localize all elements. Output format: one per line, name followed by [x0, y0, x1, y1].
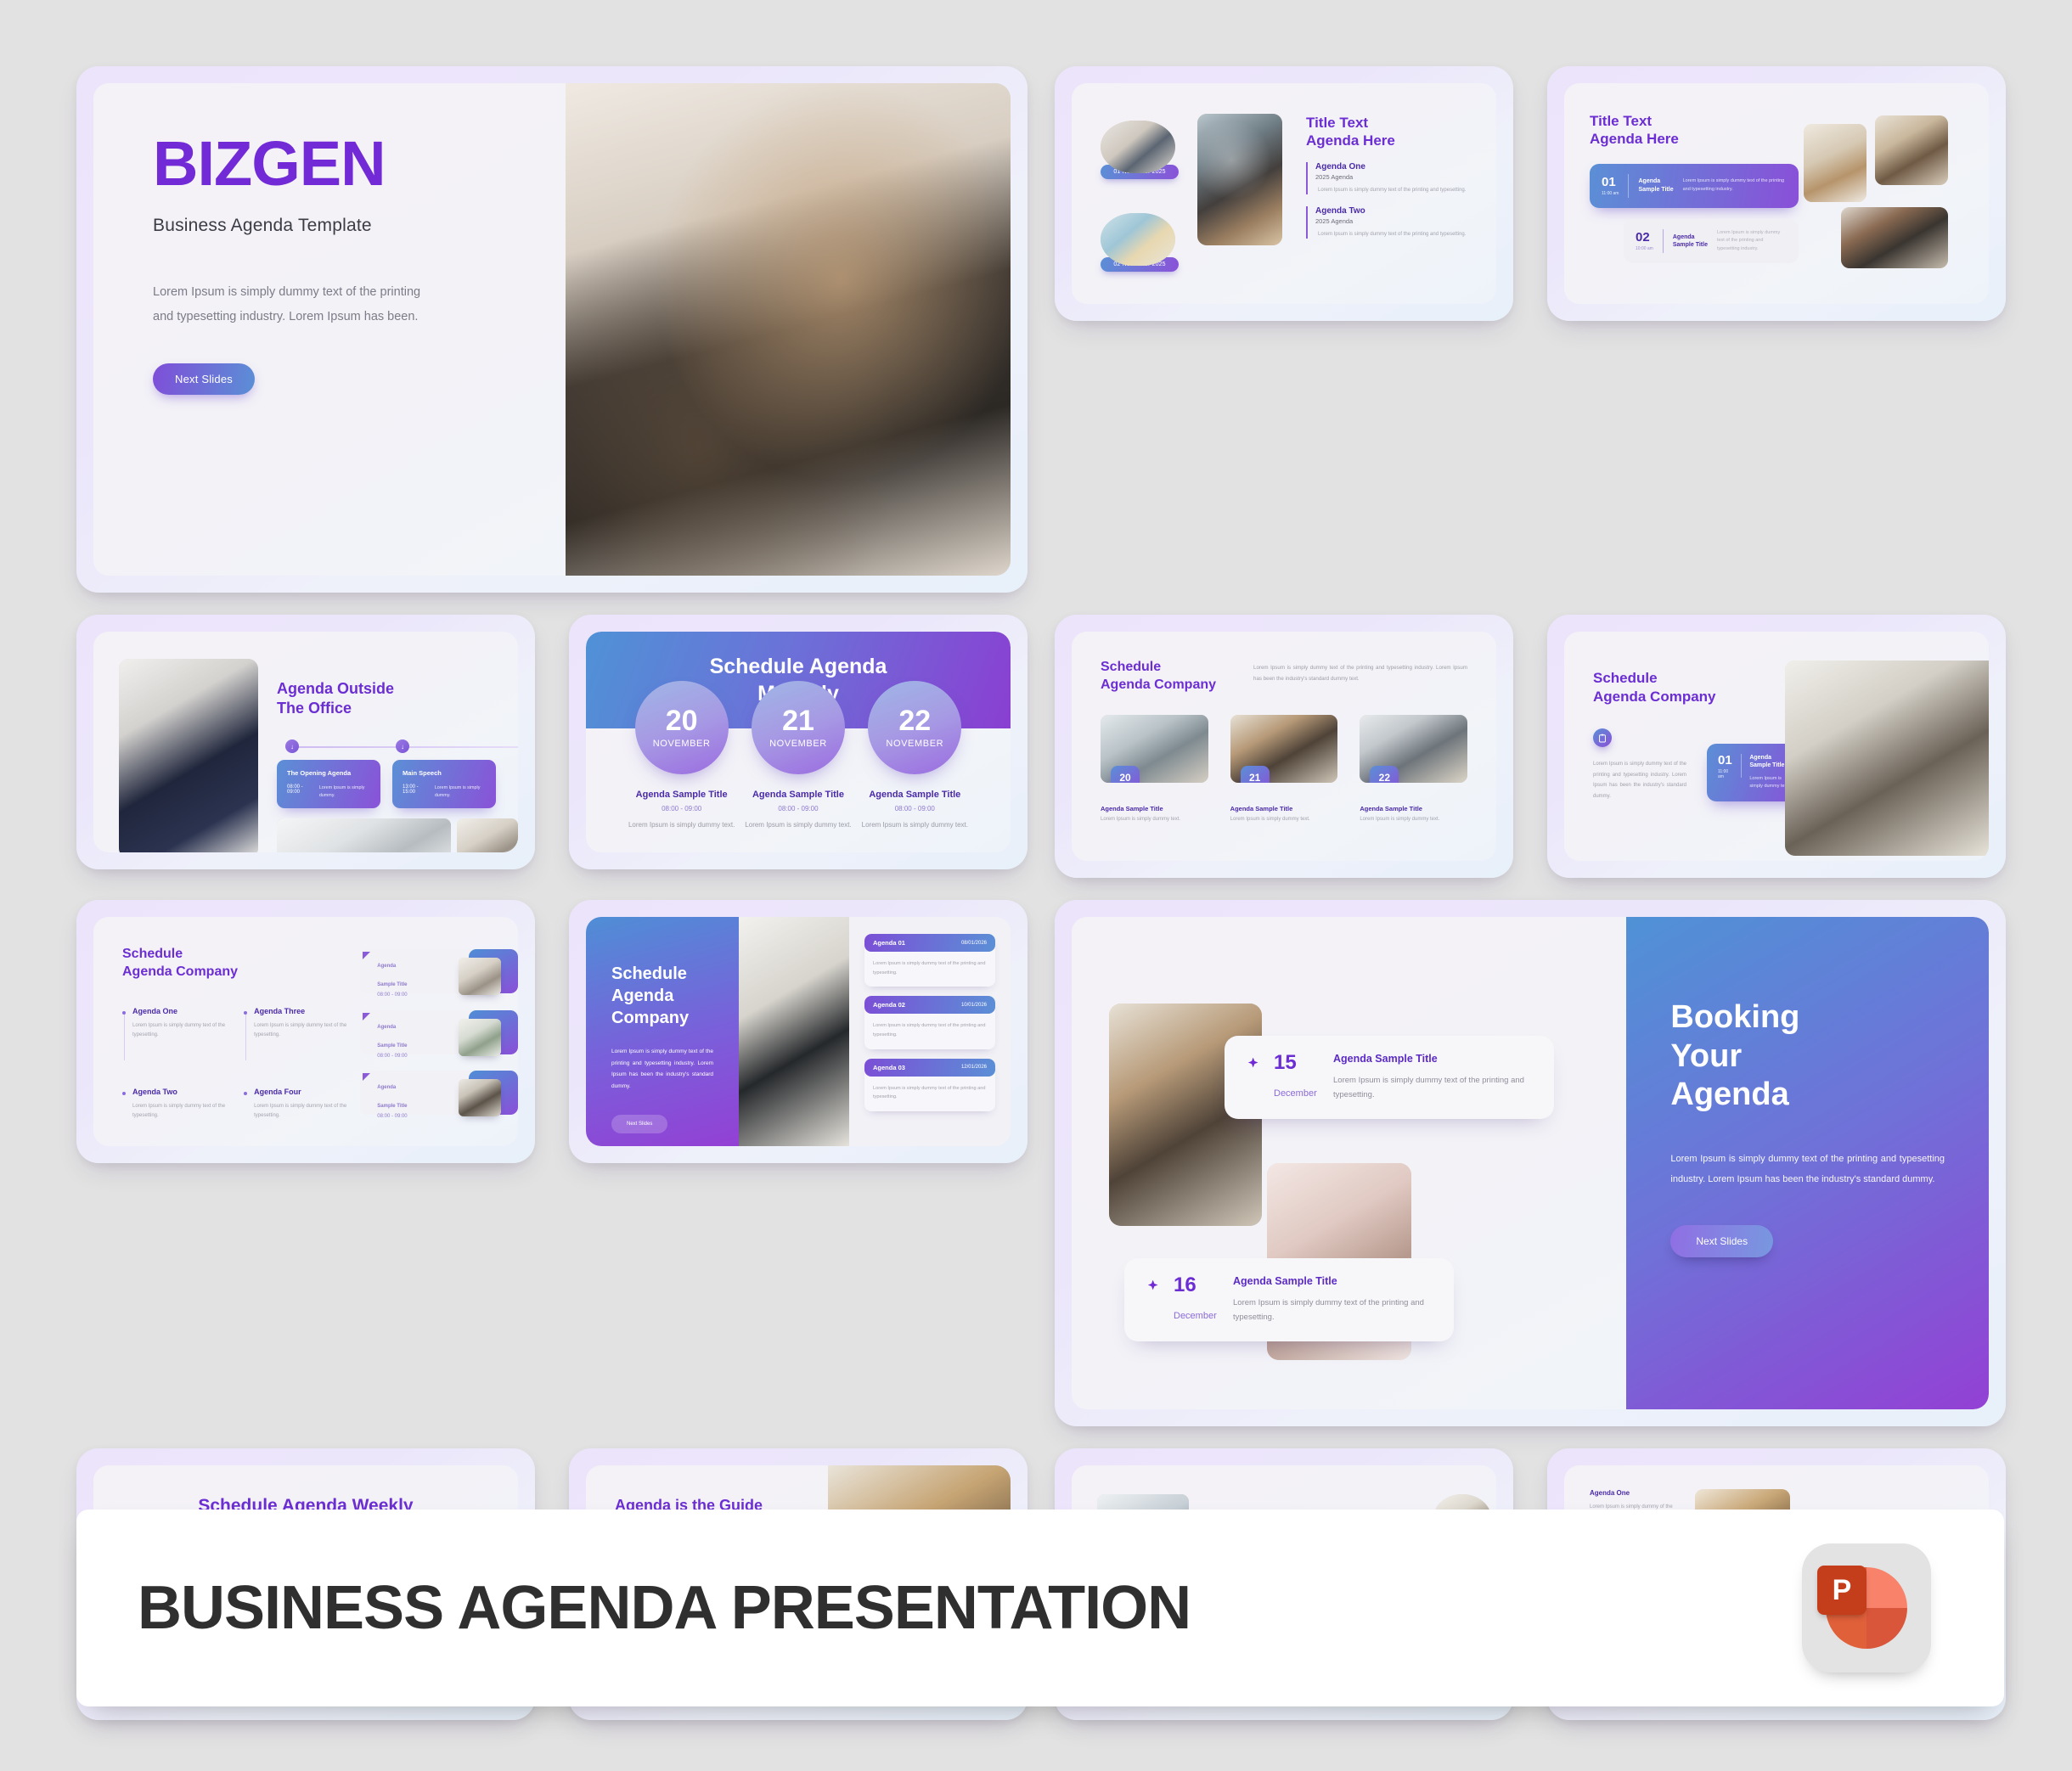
split-agenda-card[interactable]: Agenda 02 10/01/2026 Lorem Ipsum is simp… [864, 996, 995, 1049]
corner-marker-icon [363, 952, 370, 959]
schedule3-photo: 22 NOVEMBER [1360, 715, 1467, 783]
agenda-thumb-row[interactable]: Agenda Sample Title 08:00 - 09:00 [360, 949, 518, 996]
split-agenda-card[interactable]: Agenda 01 08/01/2026 Lorem Ipsum is simp… [864, 934, 995, 987]
monthly-col-title: Agenda Sample Title [857, 790, 973, 800]
schedule3-lead: Lorem Ipsum is simply dummy text of the … [1253, 659, 1467, 684]
outside-right-side-head: Agenda One [1590, 1489, 1685, 1497]
agenda-thumb-title: Agenda Sample Title [377, 963, 407, 988]
agenda-a-main-photo [1197, 114, 1282, 245]
split-card-date: 12/01/2026 [961, 1065, 987, 1070]
agenda-a-item-head: Agenda Two [1315, 206, 1467, 216]
row1-right-pair: 01 November 2025 02 November 2025 Title … [1055, 66, 2006, 593]
row2-left-pair: Agenda Outside The Office ↓ ↓ The Openin… [76, 615, 1028, 878]
split-photo [739, 917, 849, 1146]
agenda-item[interactable]: Agenda Two Lorem Ipsum is simply dummy t… [122, 1088, 230, 1122]
agenda-a-item: Agenda Two 2025 Agenda Lorem Ipsum is si… [1306, 206, 1467, 239]
outside-card-body: Lorem Ipsum is simply dummy. [319, 784, 370, 799]
agenda-b-row-title: Agenda Sample Title [1673, 233, 1708, 250]
schedule3-card-title: Agenda Sample Title [1101, 805, 1208, 812]
split-card-date: 10/01/2026 [961, 1003, 987, 1008]
split-card-body: Lorem Ipsum is simply dummy text of the … [864, 1014, 995, 1049]
agenda-b-row-1[interactable]: 01 11:00 am Agenda Sample Title Lorem Ip… [1590, 164, 1799, 208]
agenda-thumb-title: Agenda Sample Title [377, 1024, 407, 1049]
monthly-date-circle: 22 NOVEMBER [868, 681, 961, 774]
divider [1628, 174, 1629, 198]
banner-title: BUSINESS AGENDA PRESENTATION [107, 1573, 1191, 1643]
outside-left-strip-photo-2 [457, 818, 518, 852]
four-agendas-title: Schedule Agenda Company [122, 946, 352, 981]
booking-title: Booking Your Agenda [1670, 998, 1945, 1115]
agenda-b-row-time: 10:00 am [1636, 246, 1653, 251]
bullet-icon [122, 1092, 126, 1095]
schedule3-card-body: Lorem Ipsum is simply dummy text. [1230, 817, 1338, 822]
monthly-column[interactable]: 20 NOVEMBER Agenda Sample Title 08:00 - … [623, 681, 740, 829]
split-body: Lorem Ipsum is simply dummy text of the … [611, 1046, 713, 1093]
split-card-body: Lorem Ipsum is simply dummy text of the … [864, 952, 995, 987]
date-chip: 22 NOVEMBER [1370, 766, 1399, 783]
cover-photo [566, 83, 1011, 576]
agenda-item-body: Lorem Ipsum is simply dummy text of the … [132, 1102, 230, 1122]
agenda-item-body: Lorem Ipsum is simply dummy text of the … [254, 1021, 352, 1041]
monthly-col-title: Agenda Sample Title [740, 790, 856, 800]
clipboard-card-time: 11:00 am [1718, 769, 1732, 779]
outside-card-body: Lorem Ipsum is simply dummy. [435, 784, 486, 799]
split-agenda-card[interactable]: Agenda 03 12/01/2026 Lorem Ipsum is simp… [864, 1059, 995, 1111]
agenda-b-row-2[interactable]: 02 10:00 am Agenda Sample Title Lorem Ip… [1624, 219, 1799, 264]
schedule3-card[interactable]: 22 NOVEMBER Agenda Sample Title Lorem Ip… [1360, 715, 1467, 822]
clipboard-photo [1785, 661, 1989, 856]
timeline-arrow-down-icon: ↓ [396, 739, 409, 753]
clipboard-card-num: 01 [1718, 754, 1732, 767]
agenda-a-item-head: Agenda One [1315, 162, 1467, 171]
agenda-thumb-time: 08:00 - 09:00 [377, 1114, 407, 1119]
schedule3-photo: 20 NOVEMBER [1101, 715, 1208, 783]
monthly-date-circle: 21 NOVEMBER [752, 681, 845, 774]
slide-cover[interactable]: BIZGEN Business Agenda Template Lorem Ip… [76, 66, 1028, 593]
booking-card-body: Lorem Ipsum is simply dummy text of the … [1333, 1073, 1535, 1102]
powerpoint-letter: P [1817, 1566, 1866, 1615]
agenda-b-row-title: Agenda Sample Title [1638, 177, 1673, 194]
schedule3-title: Schedule Agenda Company [1101, 659, 1228, 694]
schedule3-photo: 21 NOVEMBER [1230, 715, 1338, 783]
pin-icon [1243, 1056, 1260, 1073]
booking-card-month: December [1274, 1088, 1320, 1099]
agenda-b-row-body: Lorem Ipsum is simply dummy text of the … [1683, 177, 1788, 194]
agenda-item-body: Lorem Ipsum is simply dummy text of the … [132, 1021, 230, 1041]
booking-card-day: 15 [1274, 1053, 1320, 1073]
agenda-item-head: Agenda Two [132, 1088, 230, 1096]
outside-left-photo [119, 659, 258, 852]
monthly-date-circle: 20 NOVEMBER [635, 681, 729, 774]
monthly-col-time: 08:00 - 09:00 [623, 805, 740, 812]
outside-card-title: The Opening Agenda [287, 769, 370, 777]
agenda-thumb-title: Agenda Sample Title [377, 1084, 407, 1110]
booking-next-slides-button[interactable]: Next Slides [1670, 1225, 1773, 1257]
agenda-thumb-photo [459, 1019, 501, 1056]
slide-monthly[interactable]: Schedule Agenda Monthly 20 NOVEMBER Agen… [569, 615, 1028, 869]
cover-body: Lorem Ipsum is simply dummy text of the … [153, 280, 433, 329]
outside-left-title: Agenda Outside The Office [277, 679, 518, 717]
booking-body: Lorem Ipsum is simply dummy text of the … [1670, 1149, 1945, 1189]
agenda-b-row-num: 01 [1602, 176, 1619, 188]
slide-grid: BIZGEN Business Agenda Template Lorem Ip… [76, 66, 2006, 1720]
agenda-thumb-photo [459, 1079, 501, 1116]
agenda-thumb-photo [459, 958, 501, 995]
slide-four-agendas[interactable]: Schedule Agenda Company Agenda One Lorem… [76, 900, 535, 1163]
outside-left-card[interactable]: Main Speech 13:00 - 15:00 Lorem Ipsum is… [392, 760, 496, 808]
outside-left-strip-photo-1 [277, 818, 451, 852]
agenda-thumb-row[interactable]: Agenda Sample Title 08:00 - 09:00 [360, 1010, 518, 1057]
agenda-item-head: Agenda Four [254, 1088, 352, 1096]
clipboard-body: Lorem Ipsum is simply dummy text of the … [1593, 759, 1686, 801]
agenda-a-item-body: Lorem Ipsum is simply dummy text of the … [1315, 186, 1467, 194]
agenda-item-body: Lorem Ipsum is simply dummy text of the … [254, 1102, 352, 1122]
split-card-label: Agenda 02 [873, 1001, 905, 1009]
slide-schedule-three-photos[interactable]: Schedule Agenda Company Lorem Ipsum is s… [1055, 615, 1513, 878]
outside-card-time: 13:00 - 15:00 [403, 784, 427, 795]
monthly-col-body: Lorem Ipsum is simply dummy text. [857, 821, 973, 829]
booking-card[interactable]: 16 December Agenda Sample Title Lorem Ip… [1124, 1258, 1454, 1341]
monthly-col-time: 08:00 - 09:00 [740, 805, 856, 812]
booking-card-day: 16 [1174, 1275, 1219, 1296]
divider [1741, 754, 1742, 778]
agenda-a-photo-2-group: 02 November 2025 [1101, 213, 1179, 272]
split-next-slides-button[interactable]: Next Slides [611, 1115, 667, 1133]
agenda-a-title: Title Text Agenda Here [1306, 114, 1467, 150]
agenda-a-photo-1-group: 01 November 2025 [1101, 121, 1179, 179]
agenda-a-item-year: 2025 Agenda [1315, 173, 1467, 181]
monthly-column[interactable]: 22 NOVEMBER Agenda Sample Title 08:00 - … [857, 681, 973, 829]
schedule3-card-body: Lorem Ipsum is simply dummy text. [1101, 817, 1208, 822]
timeline: ↓ ↓ [277, 739, 518, 753]
pin-icon [1143, 1279, 1160, 1296]
slide-outside-office-left[interactable]: Agenda Outside The Office ↓ ↓ The Openin… [76, 615, 535, 869]
agenda-a-item-body: Lorem Ipsum is simply dummy text of the … [1315, 230, 1467, 239]
schedule3-card-title: Agenda Sample Title [1360, 805, 1467, 812]
agenda-item[interactable]: Agenda Four Lorem Ipsum is simply dummy … [244, 1088, 352, 1122]
row2-right-pair: Schedule Agenda Company Lorem Ipsum is s… [1055, 615, 2006, 878]
agenda-b-row-time: 11:00 am [1602, 191, 1619, 196]
date-chip: 21 NOVEMBER [1241, 766, 1270, 783]
agenda-a-photo-1 [1101, 121, 1175, 173]
agenda-a-item: Agenda One 2025 Agenda Lorem Ipsum is si… [1306, 162, 1467, 194]
booking-card-title: Agenda Sample Title [1233, 1275, 1435, 1287]
slide-title-agenda-a[interactable]: 01 November 2025 02 November 2025 Title … [1055, 66, 1513, 321]
presentation-showcase: BIZGEN Business Agenda Template Lorem Ip… [0, 0, 2072, 1771]
corner-marker-icon [363, 1013, 370, 1020]
split-card-label: Agenda 03 [873, 1064, 905, 1071]
agenda-b-row-body: Lorem Ipsum is simply dummy text of the … [1717, 229, 1787, 254]
schedule3-card[interactable]: 21 NOVEMBER Agenda Sample Title Lorem Ip… [1230, 715, 1338, 822]
agenda-thumb-time: 08:00 - 09:00 [377, 1054, 407, 1059]
split-card-label: Agenda 01 [873, 939, 905, 947]
bullet-icon [244, 1092, 247, 1095]
booking-card[interactable]: 15 December Agenda Sample Title Lorem Ip… [1225, 1036, 1554, 1119]
agenda-item[interactable]: Agenda Three Lorem Ipsum is simply dummy… [244, 1007, 352, 1060]
schedule3-card-body: Lorem Ipsum is simply dummy text. [1360, 817, 1467, 822]
powerpoint-icon: P [1802, 1543, 1931, 1673]
schedule3-card-title: Agenda Sample Title [1230, 805, 1338, 812]
agenda-item[interactable]: Agenda One Lorem Ipsum is simply dummy t… [122, 1007, 230, 1060]
clipboard-icon [1593, 728, 1612, 747]
agenda-a-item-year: 2025 Agenda [1315, 217, 1467, 225]
date-chip: 20 NOVEMBER [1111, 766, 1140, 783]
booking-card-body: Lorem Ipsum is simply dummy text of the … [1233, 1296, 1435, 1324]
clipboard-title: Schedule Agenda Company [1593, 669, 1799, 706]
agenda-a-photo-2 [1101, 213, 1175, 266]
split-card-date: 08/01/2026 [961, 941, 987, 946]
slide-title-agenda-b[interactable]: Title Text Agenda Here 01 11:00 am Agend… [1547, 66, 2006, 321]
cover-title: BIZGEN [153, 132, 566, 195]
agenda-thumb-row[interactable]: Agenda Sample Title 08:00 - 09:00 [360, 1071, 518, 1117]
slide-schedule-clipboard[interactable]: Schedule Agenda Company Lorem Ipsum is s… [1547, 615, 2006, 878]
split-card-body: Lorem Ipsum is simply dummy text of the … [864, 1077, 995, 1111]
monthly-col-time: 08:00 - 09:00 [857, 805, 973, 812]
timeline-arrow-down-icon: ↓ [285, 739, 299, 753]
outside-left-card[interactable]: The Opening Agenda 08:00 - 09:00 Lorem I… [277, 760, 380, 808]
cover-subtitle: Business Agenda Template [153, 216, 566, 236]
cover-next-slides-button[interactable]: Next Slides [153, 363, 255, 395]
divider [1663, 229, 1664, 253]
split-title: Schedule Agenda Company [611, 963, 713, 1029]
monthly-col-body: Lorem Ipsum is simply dummy text. [623, 821, 740, 829]
outside-card-title: Main Speech [403, 769, 486, 777]
agenda-b-row-num: 02 [1636, 231, 1653, 244]
slide-booking[interactable]: 15 December Agenda Sample Title Lorem Ip… [1055, 900, 2006, 1426]
bottom-banner: BUSINESS AGENDA PRESENTATION P [76, 1510, 2004, 1706]
agenda-item-head: Agenda Three [254, 1007, 352, 1015]
corner-marker-icon [363, 1073, 370, 1081]
monthly-column[interactable]: 21 NOVEMBER Agenda Sample Title 08:00 - … [740, 681, 856, 829]
agenda-b-photo-3 [1841, 207, 1948, 268]
row3-left-pair: Schedule Agenda Company Agenda One Lorem… [76, 900, 1028, 1426]
monthly-col-title: Agenda Sample Title [623, 790, 740, 800]
agenda-thumb-time: 08:00 - 09:00 [377, 992, 407, 998]
agenda-b-photo-1 [1804, 124, 1866, 202]
schedule3-card[interactable]: 20 NOVEMBER Agenda Sample Title Lorem Ip… [1101, 715, 1208, 822]
outside-card-time: 08:00 - 09:00 [287, 784, 312, 795]
agenda-item-head: Agenda One [132, 1007, 230, 1015]
monthly-col-body: Lorem Ipsum is simply dummy text. [740, 821, 856, 829]
agenda-b-title: Title Text Agenda Here [1590, 112, 1799, 149]
slide-split-agendas[interactable]: Schedule Agenda Company Lorem Ipsum is s… [569, 900, 1028, 1163]
booking-card-month: December [1174, 1311, 1219, 1321]
agenda-b-photo-2 [1875, 115, 1948, 185]
booking-card-title: Agenda Sample Title [1333, 1053, 1535, 1065]
